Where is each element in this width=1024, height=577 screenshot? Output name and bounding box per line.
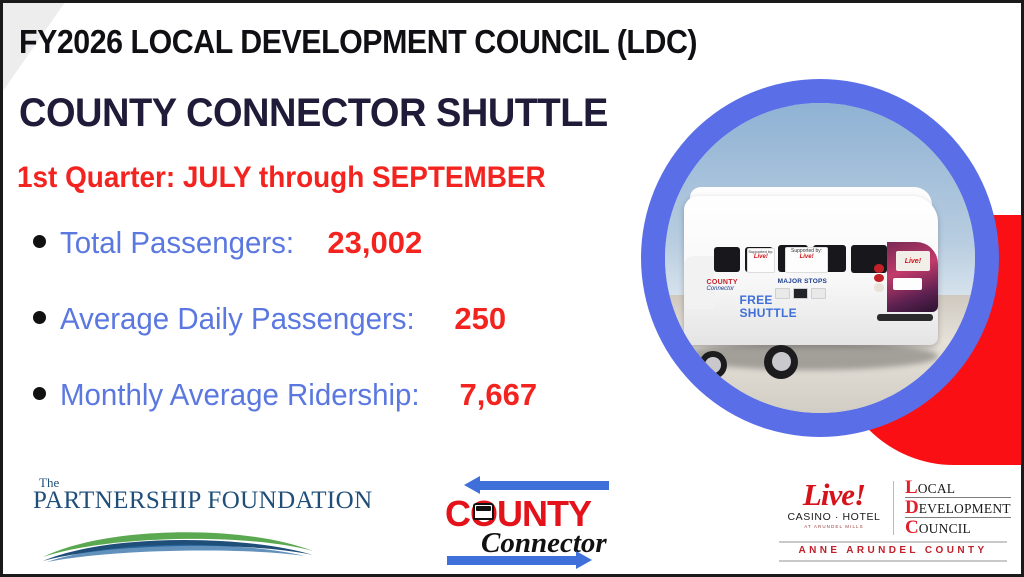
county-connector-logo: COUNTY Connector xyxy=(427,471,623,571)
stat-label: Average Daily Passengers: xyxy=(60,301,415,337)
bus-placard-supported-by: Supported by: Live! xyxy=(747,248,774,273)
list-item: Monthly Average Ridership: 7,667 xyxy=(33,377,633,413)
tail-light xyxy=(874,283,884,292)
live-arundel-mills-text: AT ARUNDEL MILLS xyxy=(779,524,889,529)
ldc-cap-letter: C xyxy=(905,519,919,537)
bus-rear-wrap: Live! xyxy=(887,242,938,312)
pf-name-text: PARTNERSHIP FOUNDATION xyxy=(33,487,373,515)
live-wordmark: Live! xyxy=(779,479,889,510)
ldc-cap-letter: D xyxy=(905,499,919,517)
bus-rear-partnership-decal xyxy=(893,278,921,290)
bus-rear-ad: Live! xyxy=(896,251,930,272)
decal-county: COUNTY xyxy=(706,279,762,286)
bus-photo-frame: Supported by: Live! Supported by: Live! … xyxy=(641,79,999,437)
bullet-icon xyxy=(33,387,46,400)
bus-wheel-front xyxy=(699,351,727,379)
placard-text: Supported by: xyxy=(791,248,822,254)
ldc-cap-letter: L xyxy=(905,479,918,497)
arrow-left-icon xyxy=(479,481,609,490)
list-item: Average Daily Passengers: 250 xyxy=(33,301,633,337)
bus-icon xyxy=(473,503,494,520)
stat-label: Total Passengers: xyxy=(60,225,294,261)
decal-free: FREE xyxy=(740,294,797,307)
ldc-word: OUNCIL xyxy=(919,522,971,537)
quarter-label: 1st Quarter: JULY through SEPTEMBER xyxy=(17,161,546,195)
stat-value: 250 xyxy=(454,301,506,337)
placard-live-logo: Live! xyxy=(748,254,773,261)
anne-arundel-county-text: ANNE ARUNDEL COUNTY xyxy=(779,545,1007,556)
live-casino-hotel-text: CASINO · HOTEL xyxy=(779,511,889,523)
placard-live-logo: Live! xyxy=(786,254,827,261)
ldc-row: D EVELOPMENT xyxy=(905,499,1011,518)
bus-body: Supported by: Live! Supported by: Live! … xyxy=(684,196,938,345)
bus-bumper xyxy=(877,314,933,321)
ldc-word: EVELOPMENT xyxy=(919,502,1011,517)
live-casino-ldc-lockup: Live! CASINO · HOTEL AT ARUNDEL MILLS L … xyxy=(773,477,1013,573)
statistics-list: Total Passengers: 23,002 Average Daily P… xyxy=(33,225,633,453)
page-subtitle: COUNTY CONNECTOR SHUTTLE xyxy=(19,91,608,136)
bullet-icon xyxy=(33,235,46,248)
stat-value: 7,667 xyxy=(460,377,538,413)
pf-swoosh-icon xyxy=(39,523,317,563)
bus-free-shuttle-decal: FREE SHUTTLE xyxy=(740,294,797,319)
ldc-row: C OUNCIL xyxy=(905,519,1011,537)
lockup-rule-top xyxy=(779,541,1007,543)
ldc-word: OCAL xyxy=(918,482,956,497)
bus-photo: Supported by: Live! Supported by: Live! … xyxy=(665,103,975,413)
decal-connector: Connector xyxy=(706,286,762,292)
ldc-logo: L OCAL D EVELOPMENT C OUNCIL xyxy=(905,479,1011,537)
slide-canvas: Supported by: Live! Supported by: Live! … xyxy=(0,0,1024,577)
arrow-right-icon xyxy=(447,556,577,565)
bus-tail-lights xyxy=(874,264,884,303)
partnership-foundation-logo: The PARTNERSHIP FOUNDATION xyxy=(33,475,323,567)
live-casino-logo: Live! CASINO · HOTEL AT ARUNDEL MILLS xyxy=(779,479,889,529)
bus-window xyxy=(714,247,739,272)
decal-shuttle: SHUTTLE xyxy=(740,307,797,320)
stat-value: 23,002 xyxy=(327,225,422,261)
bullet-icon xyxy=(33,311,46,324)
tail-light xyxy=(874,274,884,283)
stat-label: Monthly Average Ridership: xyxy=(60,377,420,413)
ldc-row: L OCAL xyxy=(905,479,1011,498)
bus-placard-sponsors: Supported by: Live! xyxy=(785,247,828,274)
bus-wheel-rear xyxy=(764,345,798,379)
lockup-rule-bottom xyxy=(779,560,1007,562)
rear-ad-live-logo: Live! xyxy=(905,258,921,265)
placard-text: Supported by: xyxy=(748,249,773,254)
stop-logo xyxy=(811,288,826,299)
page-title: FY2026 LOCAL DEVELOPMENT COUNCIL (LDC) xyxy=(19,23,697,61)
bus-major-stops-label: MAJOR STOPS xyxy=(778,278,827,285)
tail-light xyxy=(874,264,884,273)
list-item: Total Passengers: 23,002 xyxy=(33,225,633,261)
lockup-divider xyxy=(893,481,894,535)
